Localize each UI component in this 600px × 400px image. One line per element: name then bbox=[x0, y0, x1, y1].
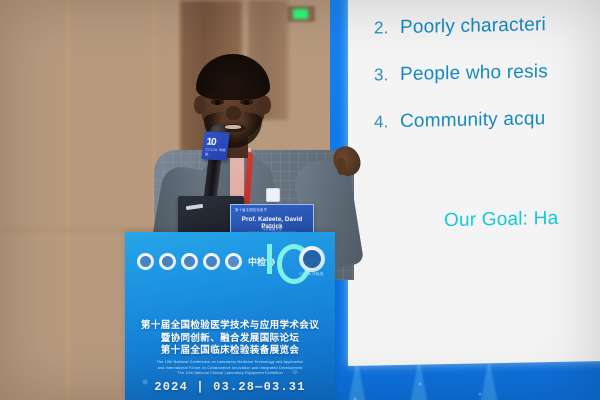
slide-list-text: People who resis bbox=[400, 61, 548, 86]
podium-subtitle-line-3: The 10th National Clinical Laboratory Eq… bbox=[125, 371, 335, 377]
org-logo-5 bbox=[225, 253, 242, 270]
slide-numbered-list: 2. Poorly characteri 3. People who resis… bbox=[374, 13, 600, 159]
org-logo-1 bbox=[137, 253, 154, 270]
microphone-flag-badge: 10 CCLTA 中检协 bbox=[201, 131, 229, 160]
speaker-eye-right bbox=[240, 99, 253, 105]
podium-event-date: 2024 | 03.28—03.31 bbox=[125, 380, 335, 394]
microphone-flag-number: 10 bbox=[206, 137, 216, 148]
slide-list-item: 3. People who resis bbox=[374, 60, 600, 87]
podium-title-line-1: 第十届全国检验医学技术与应用学术会议 bbox=[125, 320, 335, 333]
slide-goal-line: Our Goal: Ha bbox=[444, 208, 558, 232]
slide-list-item: 4. Community acqu bbox=[374, 107, 600, 134]
org-logo-3 bbox=[181, 253, 198, 270]
slide-list-item: 2. Poorly characteri bbox=[374, 13, 600, 40]
speaker-ear-left bbox=[194, 96, 205, 114]
slide-list-text: Community acqu bbox=[400, 108, 545, 133]
podium-title-line-2: 暨协同创新、融合发展国际论坛 bbox=[125, 333, 335, 346]
podium-title-block: 第十届全国检验医学技术与应用学术会议 暨协同创新、融合发展国际论坛 第十届全国临… bbox=[125, 320, 335, 358]
speaker-ear-right bbox=[260, 96, 271, 114]
wall-panel-seam bbox=[66, 0, 69, 400]
podium-lectern: 中检协 CCLTA 中检协 第十届全国检验医学技术与应用学术会议 暨协同创新、融… bbox=[125, 232, 335, 400]
slide-list-text: Poorly characteri bbox=[400, 14, 546, 39]
nameplate-header: 第十届全国检验医学 bbox=[235, 207, 267, 212]
screen-light-spike bbox=[480, 358, 498, 400]
laptop-logo-bar bbox=[186, 204, 203, 210]
speaker-nose bbox=[226, 106, 241, 120]
microphone-flag-sub: CCLTA 中检协 bbox=[205, 147, 228, 158]
podium-logo-row: 中检协 bbox=[137, 253, 275, 270]
presentation-slide: to reduc 2. Poorly characteri 3. People … bbox=[348, 0, 600, 366]
exit-sign bbox=[287, 6, 315, 22]
anniversary-logo: CCLTA 中检协 bbox=[265, 244, 325, 278]
speaker-eye-left bbox=[211, 99, 224, 105]
org-logo-4 bbox=[203, 253, 220, 270]
speaker-badge bbox=[266, 188, 280, 202]
slide-list-number: 4. bbox=[374, 112, 400, 132]
anniversary-subtitle: CCLTA 中检协 bbox=[299, 272, 324, 277]
anniversary-gear-icon bbox=[299, 246, 325, 272]
podium-subtitle-block: The 10th National Conference on Laborato… bbox=[125, 360, 335, 377]
slide-list-number: 2. bbox=[374, 18, 400, 38]
slide-list-number: 3. bbox=[374, 65, 400, 85]
conference-photo-scene: to reduc 2. Poorly characteri 3. People … bbox=[0, 0, 600, 400]
podium-title-line-3: 第十届全国临床检验装备展览会 bbox=[125, 345, 335, 358]
org-logo-2 bbox=[159, 253, 176, 270]
projection-screen: to reduc 2. Poorly characteri 3. People … bbox=[330, 0, 600, 400]
speaker-hair bbox=[196, 54, 270, 100]
